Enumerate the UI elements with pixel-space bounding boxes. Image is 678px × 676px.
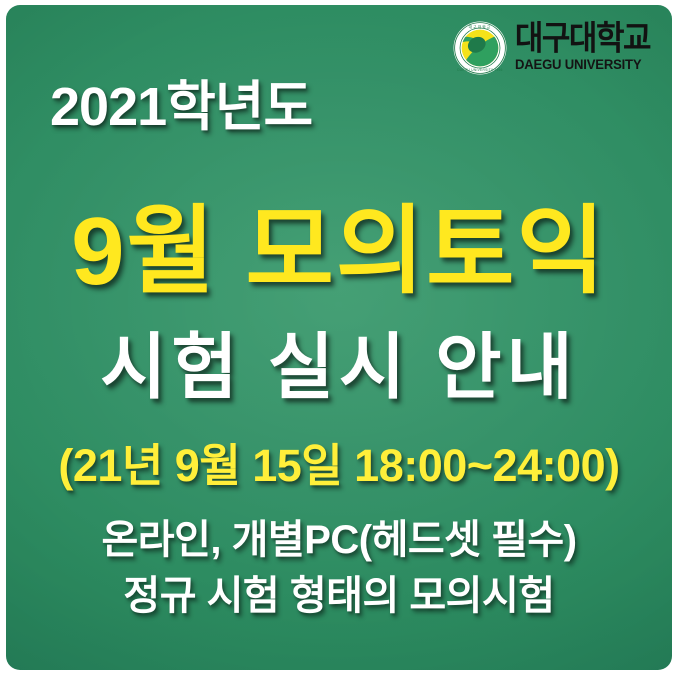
poster-root: 대구대학교 DAEGU UNIVERSITY 1956 대구대학교 DAEGU …	[0, 0, 678, 676]
poster-subtitle: 시험 실시 안내	[6, 308, 672, 413]
svg-text:대구대학교: 대구대학교	[469, 25, 492, 30]
poster-title: 9월 모의토익	[6, 173, 672, 312]
university-wordmark: 대구대학교 DAEGU UNIVERSITY	[515, 24, 650, 72]
exam-datetime-text: (21년 9월 15일 18:00~24:00)	[6, 429, 672, 494]
exam-note-line-2: 정규 시험 형태의 모의시험	[6, 563, 672, 621]
daegu-university-emblem-icon: 대구대학교 DAEGU UNIVERSITY 1956	[453, 21, 507, 75]
svg-text:DAEGU UNIVERSITY 1956: DAEGU UNIVERSITY 1956	[457, 68, 503, 72]
exam-note-line-1: 온라인, 개별PC(헤드셋 필수)	[6, 507, 672, 565]
university-name-ko: 대구대학교	[515, 22, 650, 55]
university-name-en: DAEGU UNIVERSITY	[515, 58, 641, 72]
poster-content: 2021학년도 9월 모의토익 시험 실시 안내 (21년 9월 15일 18:…	[6, 5, 672, 670]
university-logo-lockup: 대구대학교 DAEGU UNIVERSITY 1956 대구대학교 DAEGU …	[453, 21, 650, 75]
poster-panel: 대구대학교 DAEGU UNIVERSITY 1956 대구대학교 DAEGU …	[6, 5, 672, 670]
